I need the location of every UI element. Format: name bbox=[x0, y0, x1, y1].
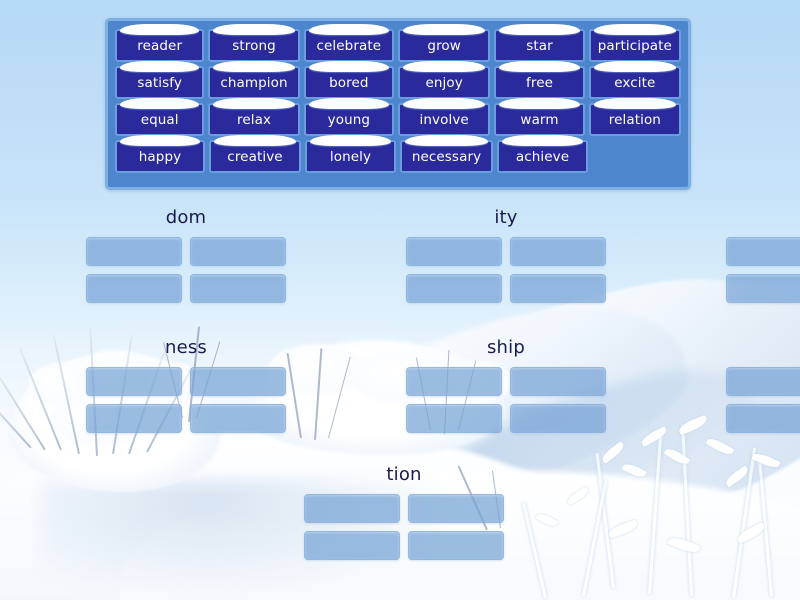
drop-slot[interactable] bbox=[190, 367, 286, 396]
category-ness: ness bbox=[86, 337, 286, 433]
drop-slot[interactable] bbox=[510, 237, 606, 266]
word-tile[interactable]: lonely bbox=[305, 140, 396, 173]
slot-grid bbox=[406, 237, 606, 303]
category-label: ship bbox=[487, 337, 525, 358]
drop-slot[interactable] bbox=[190, 274, 286, 303]
word-tile[interactable]: happy bbox=[115, 140, 205, 173]
word-tile[interactable]: champion bbox=[208, 66, 299, 99]
word-tile[interactable]: celebrate bbox=[304, 29, 394, 62]
drop-slot[interactable] bbox=[86, 367, 182, 396]
word-tile[interactable]: achieve bbox=[497, 140, 588, 173]
drop-slot[interactable] bbox=[510, 367, 606, 396]
slot-grid bbox=[406, 367, 606, 433]
drop-slot[interactable] bbox=[304, 531, 400, 560]
category-ment: ment bbox=[726, 207, 800, 303]
word-bank-row: reader strong celebrate grow star partic… bbox=[115, 29, 681, 62]
word-tile[interactable]: free bbox=[494, 66, 584, 99]
word-tile[interactable]: grow bbox=[398, 29, 490, 62]
word-bank-row: happy creative lonely necessary achieve bbox=[115, 140, 681, 173]
category-row-2: ness ship th bbox=[86, 337, 800, 433]
category-dom: dom bbox=[86, 207, 286, 303]
word-tile[interactable]: equal bbox=[115, 103, 204, 136]
category-ity: ity bbox=[406, 207, 606, 303]
word-tile[interactable]: creative bbox=[209, 140, 301, 173]
drop-slot[interactable] bbox=[408, 494, 504, 523]
word-tile[interactable]: bored bbox=[304, 66, 394, 99]
drop-slot[interactable] bbox=[190, 237, 286, 266]
drop-slot[interactable] bbox=[406, 404, 502, 433]
category-label: ness bbox=[165, 337, 207, 358]
word-tile[interactable]: participate bbox=[589, 29, 681, 62]
word-tile[interactable]: reader bbox=[115, 29, 204, 62]
category-row-3: tion bbox=[304, 464, 504, 560]
word-tile[interactable]: involve bbox=[398, 103, 490, 136]
word-tile[interactable]: young bbox=[304, 103, 394, 136]
drop-slot[interactable] bbox=[408, 531, 504, 560]
category-row-1: dom ity ment bbox=[86, 207, 800, 303]
drop-slot[interactable] bbox=[406, 274, 502, 303]
word-tile[interactable]: strong bbox=[208, 29, 299, 62]
word-tile[interactable]: necessary bbox=[400, 140, 493, 173]
category-label: ity bbox=[494, 207, 517, 228]
word-tile[interactable]: excite bbox=[589, 66, 681, 99]
drop-slot[interactable] bbox=[86, 274, 182, 303]
drop-slot[interactable] bbox=[304, 494, 400, 523]
drop-slot[interactable] bbox=[726, 367, 800, 396]
word-tile[interactable]: relation bbox=[589, 103, 681, 136]
category-th: th bbox=[726, 337, 800, 433]
word-tile[interactable]: enjoy bbox=[398, 66, 490, 99]
category-tion: tion bbox=[304, 464, 504, 560]
category-ship: ship bbox=[406, 337, 606, 433]
drop-slot[interactable] bbox=[726, 274, 800, 303]
word-tile[interactable]: warm bbox=[494, 103, 584, 136]
word-tile[interactable]: relax bbox=[208, 103, 299, 136]
slot-grid bbox=[86, 237, 286, 303]
drop-slot[interactable] bbox=[190, 404, 286, 433]
drop-slot[interactable] bbox=[86, 237, 182, 266]
slot-grid bbox=[86, 367, 286, 433]
drop-slot[interactable] bbox=[86, 404, 182, 433]
slot-grid bbox=[726, 237, 800, 303]
slot-grid bbox=[304, 494, 504, 560]
drop-slot[interactable] bbox=[726, 237, 800, 266]
category-label: dom bbox=[166, 207, 207, 228]
drop-slot[interactable] bbox=[406, 367, 502, 396]
word-tile[interactable]: satisfy bbox=[115, 66, 204, 99]
word-bank-row: satisfy champion bored enjoy free excite bbox=[115, 66, 681, 99]
word-bank-panel: reader strong celebrate grow star partic… bbox=[105, 18, 691, 190]
slot-grid bbox=[726, 367, 800, 433]
word-tile[interactable]: star bbox=[494, 29, 584, 62]
drop-slot[interactable] bbox=[510, 404, 606, 433]
drop-slot[interactable] bbox=[726, 404, 800, 433]
drop-slot[interactable] bbox=[510, 274, 606, 303]
word-bank-row: equal relax young involve warm relation bbox=[115, 103, 681, 136]
category-label: tion bbox=[386, 464, 421, 485]
drop-slot[interactable] bbox=[406, 237, 502, 266]
